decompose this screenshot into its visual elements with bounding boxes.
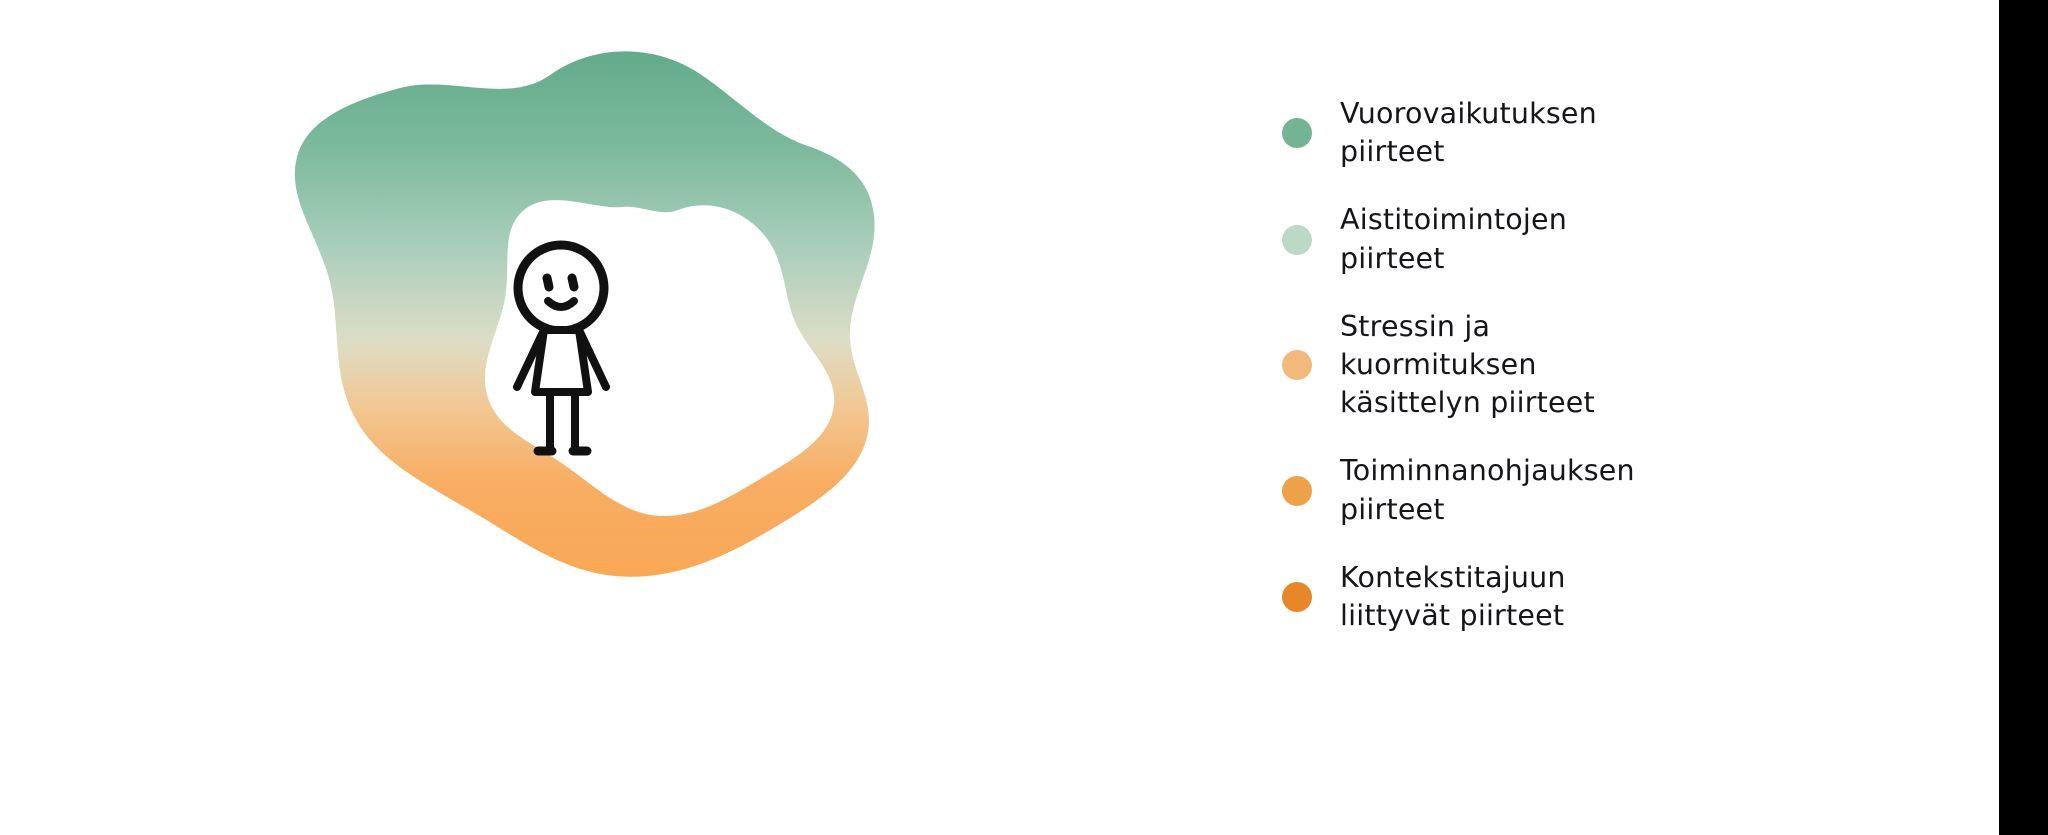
legend-label-stressin-ja-kuormituksen: Stressin ja kuormituksen käsittelyn piir… [1340, 308, 1595, 423]
legend-dot-kontekstitajuun [1282, 582, 1312, 612]
legend-dot-vuorovaikutuksen [1282, 118, 1312, 148]
slide-canvas: Vuorovaikutuksen piirteet Aistitoimintoj… [0, 0, 2048, 835]
figure-right-eye [572, 278, 574, 287]
illustration-container [250, 20, 910, 610]
legend-dot-stressin-ja-kuormituksen [1282, 350, 1312, 380]
legend-label-aistitoimintojen: Aistitoimintojen piirteet [1340, 201, 1567, 277]
letterbox-bar-right [1999, 0, 2048, 835]
figure-head [518, 245, 604, 331]
legend-dot-toiminnanohjauksen [1282, 476, 1312, 506]
legend-list: Vuorovaikutuksen piirteet Aistitoimintoj… [1282, 95, 1842, 635]
blob-illustration-svg [250, 20, 910, 610]
legend-item-vuorovaikutuksen[interactable]: Vuorovaikutuksen piirteet [1282, 95, 1842, 171]
legend-item-kontekstitajuun[interactable]: Kontekstitajuun liittyvät piirteet [1282, 559, 1842, 635]
legend-item-aistitoimintojen[interactable]: Aistitoimintojen piirteet [1282, 201, 1842, 277]
legend-label-kontekstitajuun: Kontekstitajuun liittyvät piirteet [1340, 559, 1566, 635]
legend-dot-aistitoimintojen [1282, 225, 1312, 255]
legend-label-vuorovaikutuksen: Vuorovaikutuksen piirteet [1340, 95, 1597, 171]
legend-item-toiminnanohjauksen[interactable]: Toiminnanohjauksen piirteet [1282, 452, 1842, 528]
legend-label-toiminnanohjauksen: Toiminnanohjauksen piirteet [1340, 452, 1635, 528]
figure-left-eye [547, 278, 549, 287]
legend-item-stressin-ja-kuormituksen[interactable]: Stressin ja kuormituksen käsittelyn piir… [1282, 308, 1842, 423]
